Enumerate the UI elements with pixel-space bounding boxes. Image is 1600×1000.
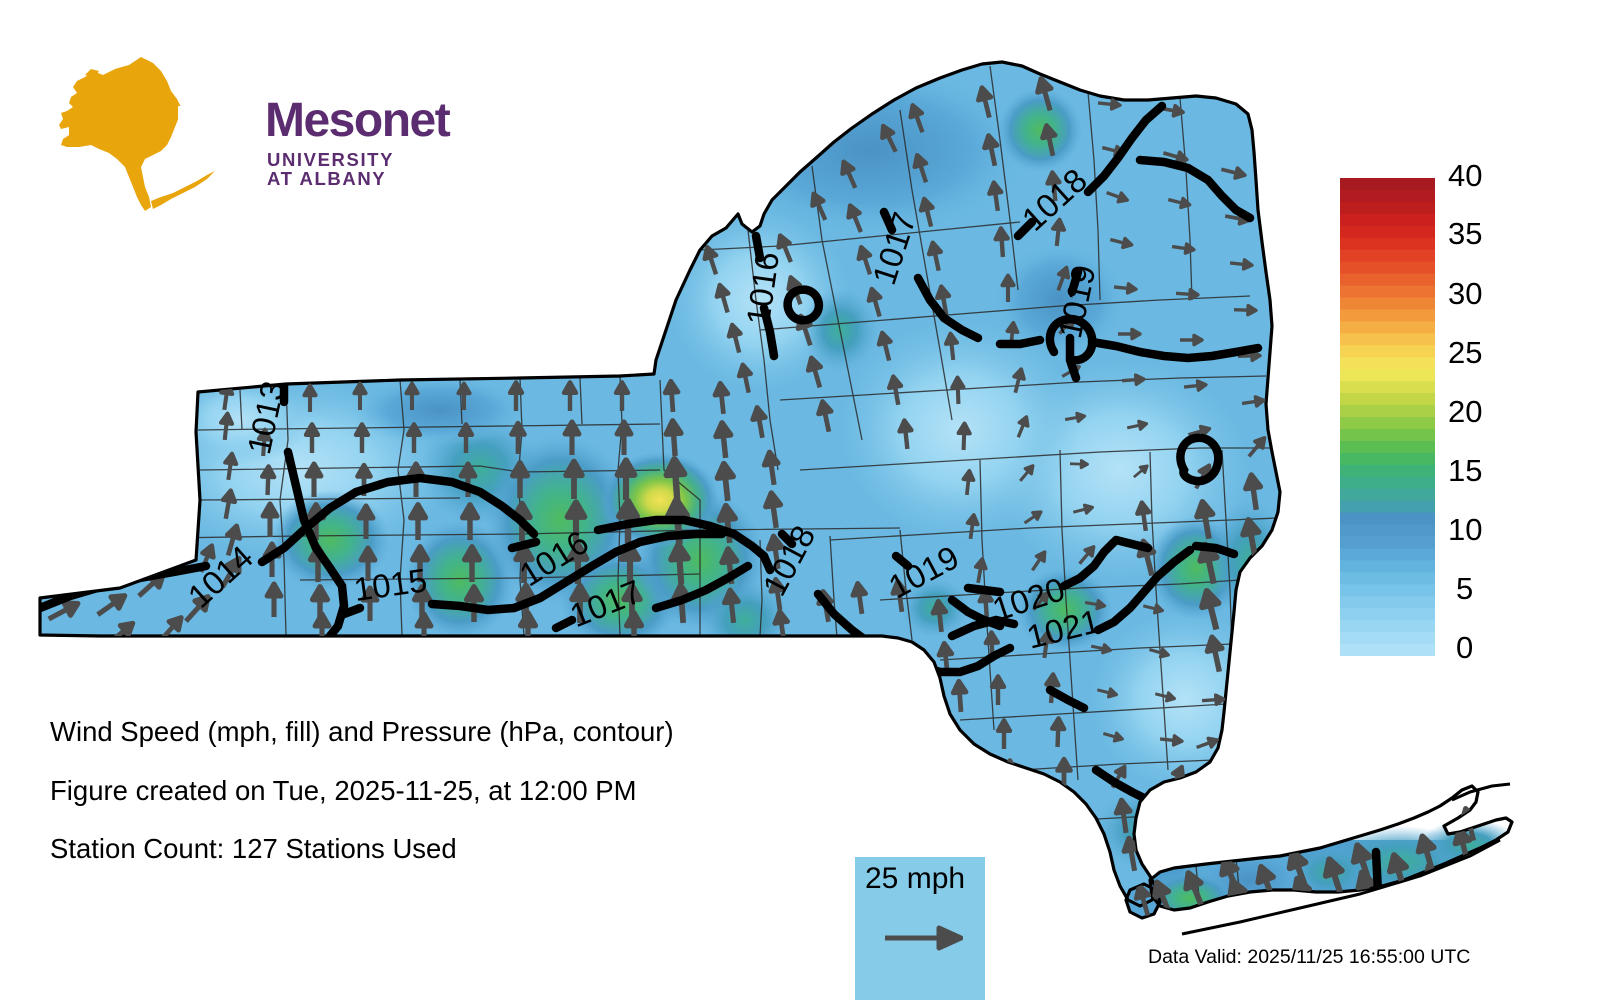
logo-mesonet-text: Mesonet	[265, 97, 449, 145]
figure-caption: Wind Speed (mph, fill) and Pressure (hPa…	[50, 718, 880, 894]
logo-university-text: UNIVERSITY AT ALBANY	[267, 151, 405, 188]
colorbar-tick: 5	[1456, 573, 1473, 604]
wind-vector-legend: 25 mph	[855, 857, 985, 1000]
colorbar-tick: 15	[1448, 455, 1482, 486]
pressure-contour-long-island	[1376, 852, 1378, 892]
colorbar-bands	[1340, 178, 1435, 656]
caption-created: Figure created on Tue, 2025-11-25, at 12…	[50, 777, 880, 805]
colorbar-tick-labels: 40 35 30 25 20 15 10 5 0	[1448, 160, 1558, 674]
reference-wind-arrow-icon	[883, 922, 963, 954]
vector-legend-label: 25 mph	[865, 864, 965, 894]
data-valid-timestamp: Data Valid: 2025/11/25 16:55:00 UTC	[1148, 948, 1470, 968]
colorbar-tick: 10	[1448, 514, 1482, 545]
colorbar-tick: 30	[1448, 278, 1482, 309]
logo-nys-text: NYS	[175, 99, 267, 145]
wind-speed-colorbar	[1340, 178, 1435, 656]
colorbar-tick: 0	[1456, 632, 1473, 663]
caption-station-count: Station Count: 127 Stations Used	[50, 835, 880, 863]
colorbar-tick: 25	[1448, 337, 1482, 368]
colorbar-tick: 40	[1448, 160, 1482, 191]
colorbar-tick: 35	[1448, 218, 1482, 249]
caption-title: Wind Speed (mph, fill) and Pressure (hPa…	[50, 718, 880, 746]
colorbar-tick: 20	[1448, 396, 1482, 427]
map-fill-long-island	[1100, 819, 1560, 940]
